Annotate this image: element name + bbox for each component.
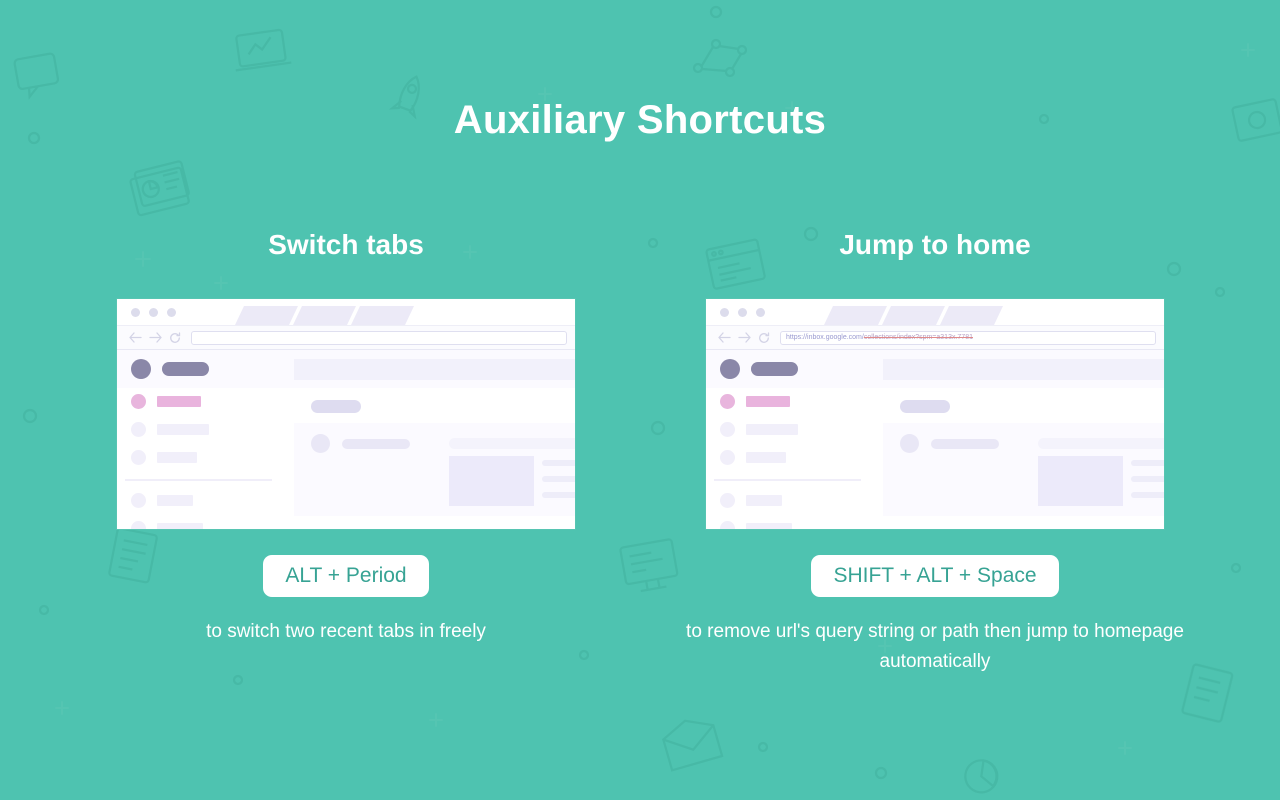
mockup-body [706,388,1165,530]
avatar [131,521,146,530]
url-input[interactable] [191,331,567,345]
list-item [720,422,798,437]
forward-arrow-icon[interactable] [145,330,165,346]
list-item [720,394,790,409]
url-input[interactable]: https://inbox.google.com/collections/ind… [780,331,1156,345]
browser-tabbar [117,299,575,325]
avatar [131,394,146,409]
shortcut-card-jump-to-home: Jump to home [640,225,1230,677]
shortcut-description: to switch two recent tabs in freely [96,617,596,647]
browser-tab[interactable] [882,306,945,325]
url-text: https://inbox.google.com/collections/ind… [786,333,973,342]
avatar [720,394,735,409]
account-header-panel [883,359,1165,380]
window-controls [720,308,765,317]
card-line-placeholder [1131,460,1165,466]
shortcut-card-switch-tabs: Switch tabs [51,225,641,647]
card-line-placeholder [1131,476,1165,482]
list-item-label [157,424,209,435]
browser-tab[interactable] [235,306,298,325]
mockup-main-content [883,388,1165,530]
reload-icon[interactable] [165,330,185,346]
window-dot-icon [756,308,765,317]
account-header-row [117,350,575,388]
card-line-placeholder [542,460,576,466]
avatar [131,359,151,379]
browser-tabs [177,306,414,325]
list-item [720,521,792,530]
account-header-row [706,350,1164,388]
list-item [720,493,782,508]
window-controls [131,308,176,317]
mockup-sidebar [117,388,294,530]
browser-tab[interactable] [766,306,829,325]
avatar [311,434,330,453]
avatar [900,434,919,453]
window-dot-icon [131,308,140,317]
browser-tab[interactable] [351,306,414,325]
card-line-placeholder [1131,492,1165,498]
account-header-panel [294,359,576,380]
browser-tab[interactable] [940,306,1003,325]
list-item [131,422,209,437]
window-dot-icon [720,308,729,317]
list-item-label [746,396,790,407]
list-item [720,450,786,465]
list-item [131,450,197,465]
list-item [131,394,201,409]
card-image-placeholder [1038,456,1123,506]
avatar [131,422,146,437]
back-arrow-icon[interactable] [714,330,734,346]
window-dot-icon [738,308,747,317]
shortcut-key-badge: ALT + Period [263,555,428,597]
browser-mockup [116,298,576,530]
browser-tab[interactable] [293,306,356,325]
content-card [294,423,576,516]
avatar [720,359,740,379]
divider [125,479,272,481]
account-name-placeholder [751,362,798,376]
list-item [131,521,203,530]
card-title-placeholder [931,439,999,449]
mockup-sidebar [706,388,883,530]
avatar [720,521,735,530]
card-subtitle-placeholder [1038,438,1165,449]
card-image-placeholder [449,456,534,506]
content-title-placeholder [311,400,361,413]
forward-arrow-icon[interactable] [734,330,754,346]
card-line-placeholder [542,476,576,482]
browser-address-bar: https://inbox.google.com/collections/ind… [706,325,1164,350]
shortcut-heading: Jump to home [640,225,1230,265]
browser-mockup: https://inbox.google.com/collections/ind… [705,298,1165,530]
mockup-body [117,388,576,530]
list-item-label [157,523,203,530]
card-title-placeholder [342,439,410,449]
card-line-placeholder [542,492,576,498]
shortcut-heading: Switch tabs [51,225,641,265]
browser-tab[interactable] [177,306,240,325]
list-item-label [746,523,792,530]
divider [714,479,861,481]
avatar [720,450,735,465]
list-item-label [746,452,786,463]
card-subtitle-placeholder [449,438,576,449]
back-arrow-icon[interactable] [125,330,145,346]
list-item-label [157,495,193,506]
list-item-label [157,452,197,463]
browser-address-bar [117,325,575,350]
browser-tabbar [706,299,1164,325]
list-item-label [746,424,798,435]
avatar [131,493,146,508]
reload-icon[interactable] [754,330,774,346]
avatar [720,493,735,508]
avatar [720,422,735,437]
shortcut-key-badge: SHIFT + ALT + Space [811,555,1058,597]
browser-tab[interactable] [824,306,887,325]
window-dot-icon [167,308,176,317]
shortcut-description: to remove url's query string or path the… [675,617,1195,677]
account-name-placeholder [162,362,209,376]
window-dot-icon [149,308,158,317]
list-item-label [157,396,201,407]
browser-tabs [766,306,1003,325]
shortcut-columns: Switch tabs [0,0,1280,800]
avatar [131,450,146,465]
list-item [131,493,193,508]
mockup-main-content [294,388,576,530]
content-title-placeholder [900,400,950,413]
list-item-label [746,495,782,506]
content-card [883,423,1165,516]
